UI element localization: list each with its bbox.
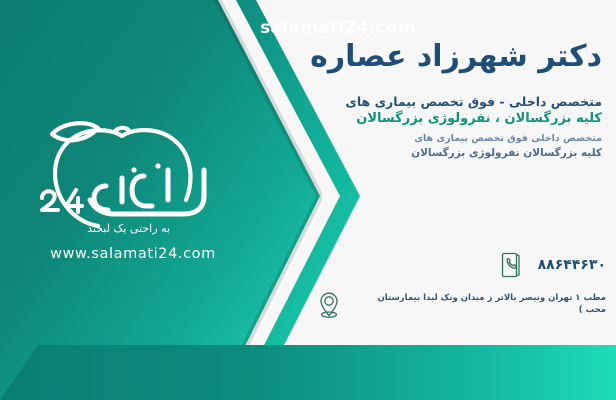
brand-logo: به راحتی یک لبخند www.salamati24.com	[18, 104, 248, 279]
location-pin-icon	[314, 288, 344, 322]
logo-website-url: www.salamati24.com	[18, 246, 248, 262]
phone-number[interactable]: ۸۸۶۴۴۶۳۰	[538, 257, 606, 273]
contact-row-phone[interactable]: ۸۸۶۴۴۶۳۰	[496, 248, 606, 282]
phonebook-icon	[496, 248, 526, 282]
footer-bar	[0, 345, 616, 400]
apple-outline-icon: به راحتی یک لبخند	[18, 104, 248, 244]
specialty-line-1: متخصص داخلی - فوق تخصص بیماری های	[302, 93, 602, 111]
wordmark-salamati	[90, 163, 204, 214]
clinic-address[interactable]: مطب ۱ تهران ونیصر بالاتر ز میدان ونک لبد…	[356, 293, 606, 317]
business-card-banner: به راحتی یک لبخند www.salamati24.com دکت…	[0, 0, 616, 400]
logo-tagline-text: به راحتی یک لبخند	[87, 222, 170, 235]
specialty-line-2: کلیه بزرگسالان ، نفرولوژی بزرگسالان	[302, 110, 602, 129]
footer-website[interactable]: salamati24.com	[0, 0, 616, 55]
specialty-line-3: متخصص داخلی فوق تخصص بیماری های	[302, 132, 602, 146]
specialty-line-4: کلیه بزرگسالان نفرولوژی بزرگسالان	[302, 146, 602, 162]
profile-content: دکتر شهرزاد عصاره متخصص داخلی - فوق تخصص…	[300, 0, 616, 400]
contact-row-address[interactable]: مطب ۱ تهران ونیصر بالاتر ز میدان ونک لبد…	[314, 288, 606, 322]
